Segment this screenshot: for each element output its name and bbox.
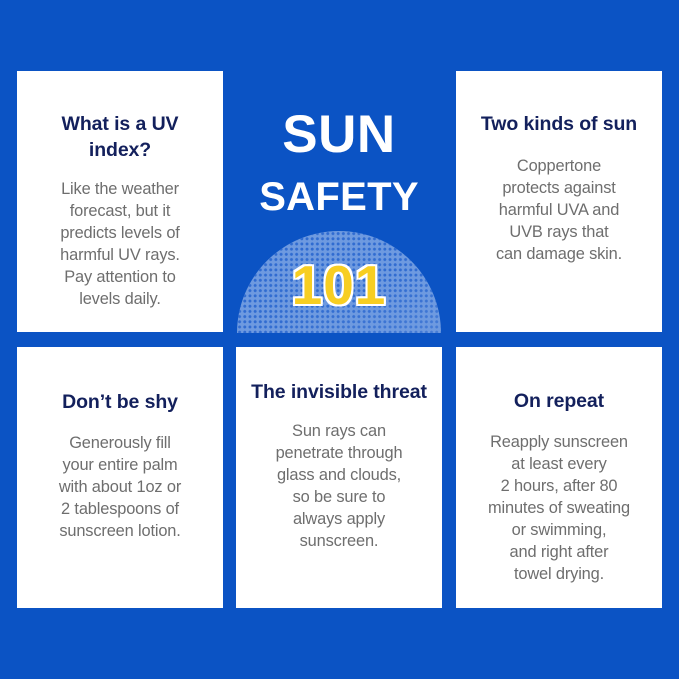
card-title-dont-be-shy: Don’t be shy — [62, 390, 178, 416]
info-card-on-repeat: On repeat Reapply sunscreen at least eve… — [456, 347, 662, 608]
card-title-uv-index: What is a UV index? — [31, 112, 209, 163]
card-body-two-kinds: Coppertone protects against harmful UVA … — [496, 156, 622, 266]
card-title-on-repeat: On repeat — [514, 389, 604, 415]
info-card-uv-index: What is a UV index? Like the weather for… — [17, 71, 223, 332]
sun-safety-infographic: What is a UV index? Like the weather for… — [0, 0, 679, 679]
card-title-invisible-threat: The invisible threat — [251, 380, 427, 406]
card-body-on-repeat: Reapply sunscreen at least every 2 hours… — [488, 432, 630, 586]
card-title-two-kinds: Two kinds of sun — [481, 112, 637, 138]
card-body-dont-be-shy: Generously fill your entire palm with ab… — [59, 433, 181, 543]
logo-block: SUN SAFETY 101 — [236, 71, 442, 332]
info-card-invisible-threat: The invisible threat Sun rays can penetr… — [236, 347, 442, 608]
logo-word-safety: SAFETY — [236, 177, 442, 217]
info-card-two-kinds-of-sun: Two kinds of sun Coppertone protects aga… — [456, 71, 662, 332]
info-card-dont-be-shy: Don’t be shy Generously fill your entire… — [17, 347, 223, 608]
logo-number-101: 101 — [236, 258, 442, 313]
card-body-uv-index: Like the weather forecast, but it predic… — [60, 179, 180, 311]
logo-word-sun: SUN — [236, 108, 442, 161]
card-body-invisible-threat: Sun rays can penetrate through glass and… — [276, 421, 403, 553]
